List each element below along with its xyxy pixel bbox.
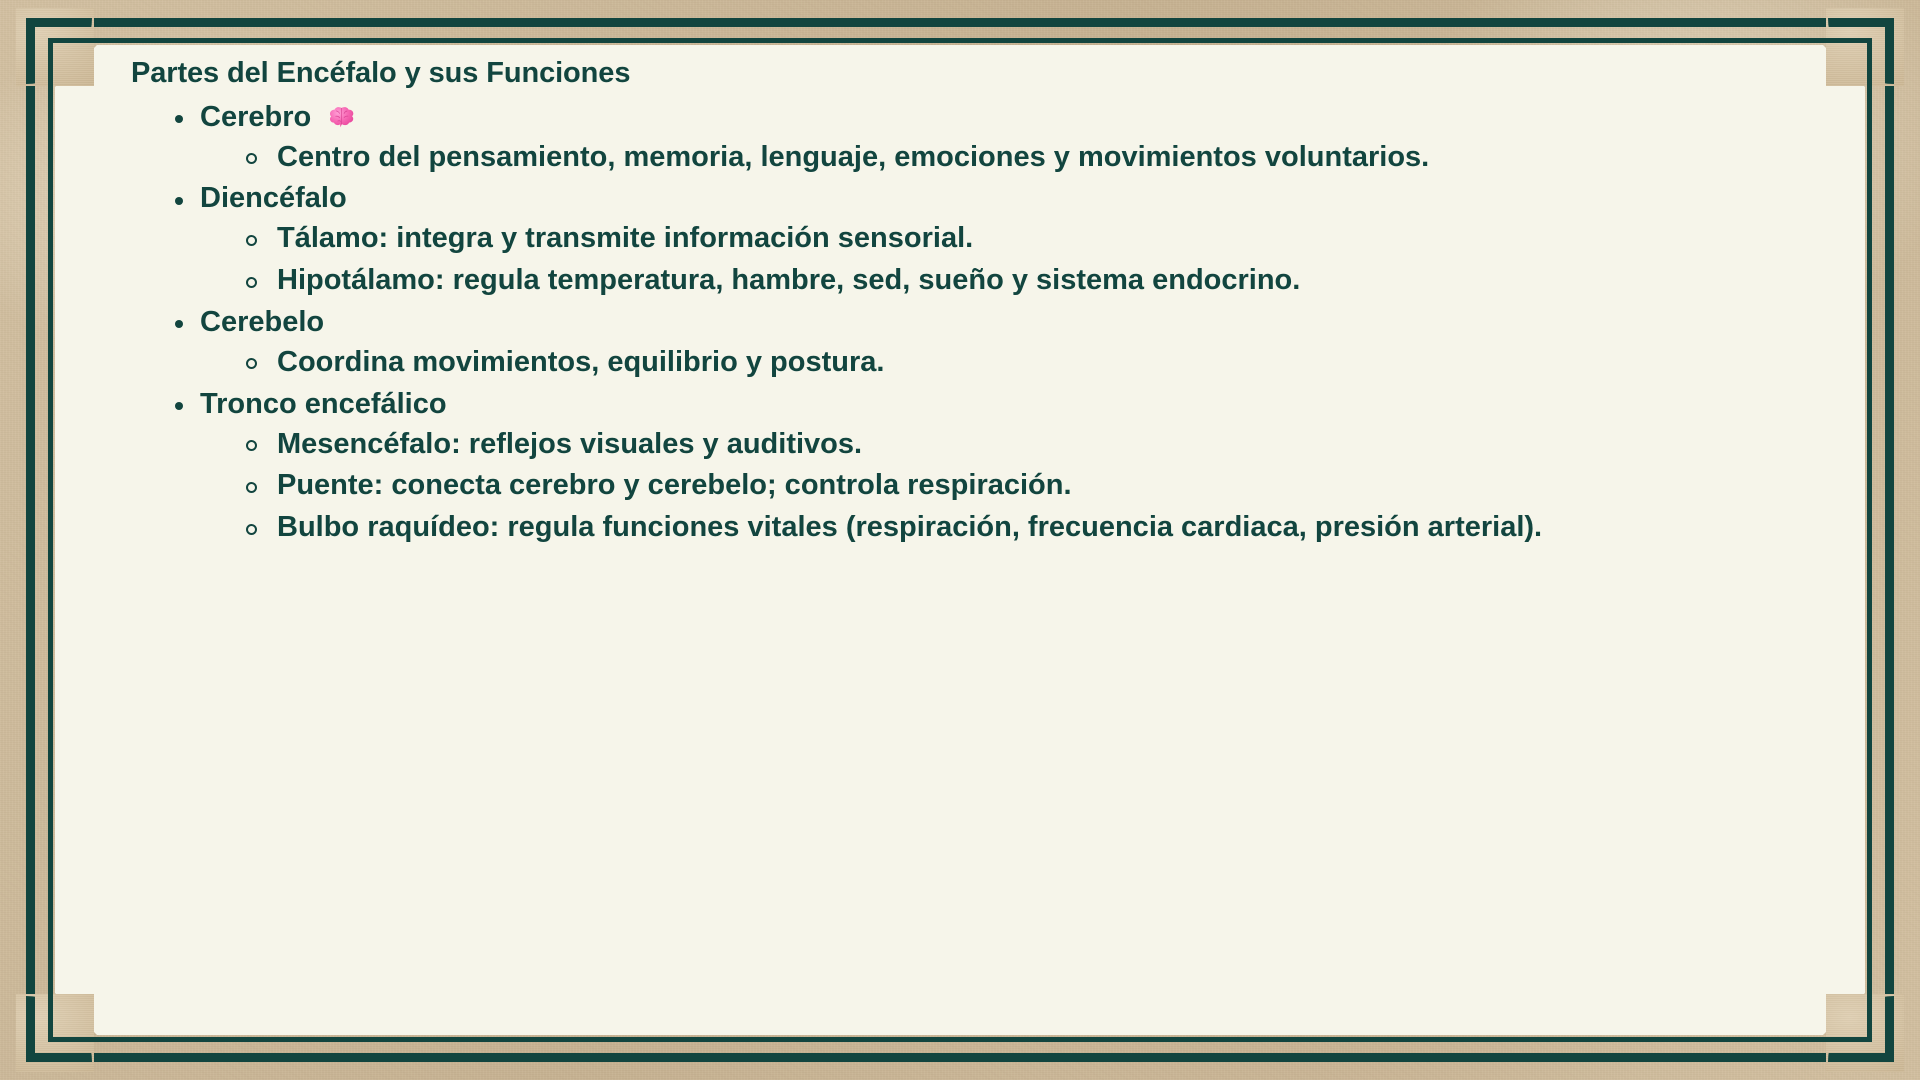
disc-bullet-icon: [175, 320, 183, 328]
section-label-diencefalo: Diencéfalo: [200, 182, 347, 214]
detail-list-cerebro: Centro del pensamiento, memoria, lenguaj…: [242, 139, 1739, 177]
section-label-cerebelo: Cerebelo: [200, 306, 324, 338]
detail-text: Hipotálamo: regula temperatura, hambre, …: [277, 264, 1300, 296]
detail-item: Puente: conecta cerebro y cerebelo; cont…: [242, 467, 1739, 505]
list-item-diencefalo: Diencéfalo Tálamo: integra y transmite i…: [169, 180, 1739, 299]
disc-bullet-icon: [175, 115, 183, 123]
list-item-tronco-encefalico: Tronco encefálico Mesencéfalo: reflejos …: [169, 386, 1739, 547]
detail-text: Centro del pensamiento, memoria, lenguaj…: [277, 141, 1429, 173]
circle-bullet-icon: [246, 235, 257, 246]
list-item-cerebelo: Cerebelo Coordina movimientos, equilibri…: [169, 304, 1739, 382]
brain-parts-list: Cerebro: [169, 99, 1739, 547]
document-body: Partes del Encéfalo y sus Funciones Cere…: [131, 55, 1739, 551]
circle-bullet-icon: [246, 482, 257, 493]
circle-bullet-icon: [246, 153, 257, 164]
section-label-tronco-encefalico: Tronco encefálico: [200, 388, 447, 420]
detail-text: Tálamo: integra y transmite información …: [277, 222, 973, 254]
detail-text: Mesencéfalo: reflejos visuales y auditiv…: [277, 428, 862, 460]
circle-bullet-icon: [246, 277, 257, 288]
detail-text: Coordina movimientos, equilibrio y postu…: [277, 346, 884, 378]
page-title: Partes del Encéfalo y sus Funciones: [131, 55, 1739, 92]
circle-bullet-icon: [246, 358, 257, 369]
circle-bullet-icon: [246, 440, 257, 451]
detail-list-tronco-encefalico: Mesencéfalo: reflejos visuales y auditiv…: [242, 426, 1739, 547]
list-item-cerebro: Cerebro: [169, 99, 1739, 177]
detail-item: Centro del pensamiento, memoria, lenguaj…: [242, 139, 1739, 177]
section-label-cerebro: Cerebro: [200, 101, 311, 133]
detail-text: Bulbo raquídeo: regula funciones vitales…: [277, 511, 1542, 543]
detail-item: Mesencéfalo: reflejos visuales y auditiv…: [242, 426, 1739, 464]
brain-emoji-icon: [328, 104, 358, 130]
disc-bullet-icon: [175, 402, 183, 410]
detail-item: Bulbo raquídeo: regula funciones vitales…: [242, 509, 1739, 547]
detail-item: Hipotálamo: regula temperatura, hambre, …: [242, 262, 1739, 300]
slide-canvas: Partes del Encéfalo y sus Funciones Cere…: [0, 0, 1920, 1080]
detail-item: Coordina movimientos, equilibrio y postu…: [242, 344, 1739, 382]
detail-item: Tálamo: integra y transmite información …: [242, 220, 1739, 258]
disc-bullet-icon: [175, 197, 183, 205]
detail-list-diencefalo: Tálamo: integra y transmite información …: [242, 220, 1739, 299]
detail-list-cerebelo: Coordina movimientos, equilibrio y postu…: [242, 344, 1739, 382]
circle-bullet-icon: [246, 524, 257, 535]
detail-text: Puente: conecta cerebro y cerebelo; cont…: [277, 469, 1072, 501]
